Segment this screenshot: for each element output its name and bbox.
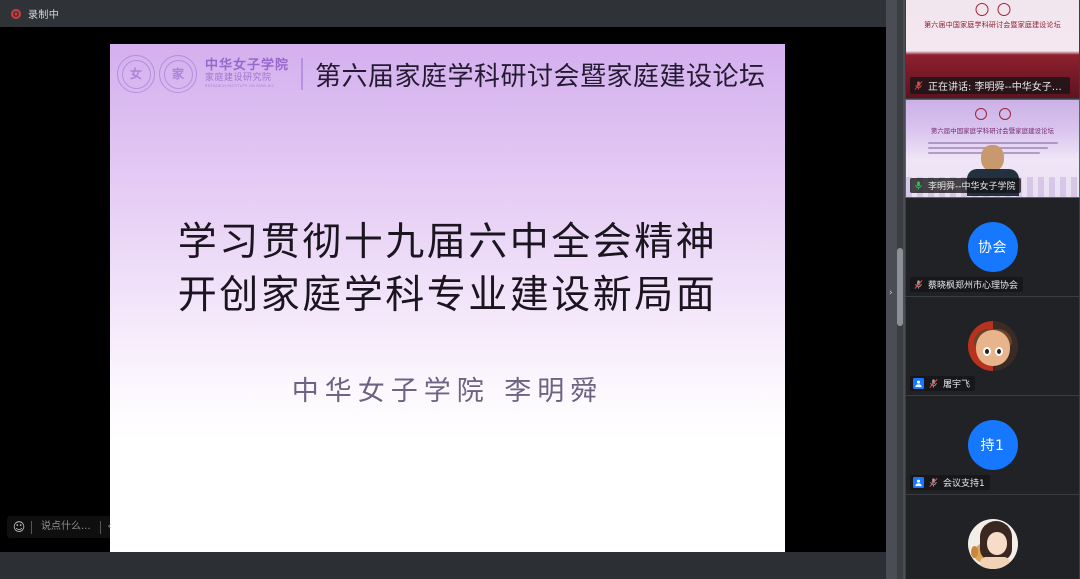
participant-label: 李明舜--中华女子学院	[910, 178, 1021, 193]
meeting-window: 录制中 女 家 中华女子学院 家庭建设研究院 RESEARCH INSTITUT…	[0, 0, 1080, 579]
expand-panel-chevron-icon[interactable]: ›	[889, 289, 893, 298]
logo-university-name: 中华女子学院	[205, 59, 289, 73]
participant-panel[interactable]: 第六届中国家庭学科研讨会暨家庭建设论坛正在讲话: 李明舜--中华女子学...第六…	[905, 0, 1080, 579]
chat-input[interactable]: 说点什么...	[32, 516, 100, 538]
presentation-slide: 女 家 中华女子学院 家庭建设研究院 RESEARCH INSTITUTE ON…	[110, 44, 785, 552]
slide-main-title: 学习贯彻十九届六中全会精神 开创家庭学科专业建设新局面	[110, 216, 785, 323]
slide-title-line-1: 学习贯彻十九届六中全会精神	[110, 216, 785, 269]
photo-seal-icons	[975, 108, 1011, 120]
participant-name: 会议支持1	[943, 476, 985, 489]
mic-muted-icon	[913, 279, 924, 290]
participant-tile[interactable]	[905, 495, 1080, 579]
participant-label: 会议支持1	[910, 475, 990, 490]
logo-institute-name: 家庭建设研究院	[205, 73, 289, 84]
avatar-image	[968, 519, 1018, 569]
seal-glyph-2: 家	[172, 68, 184, 80]
participant-tile[interactable]: 第六届中国家庭学科研讨会暨家庭建设论坛李明舜--中华女子学院	[905, 99, 1080, 198]
logo-divider	[301, 58, 303, 90]
mic-muted-icon	[928, 477, 939, 488]
photo-seal-icons	[975, 3, 1010, 16]
mic-on-icon	[913, 180, 924, 191]
mic-muted-icon	[928, 378, 939, 389]
participant-label: 蔡晓枫郑州市心理协会	[910, 277, 1023, 292]
seal-glyph-1: 女	[130, 68, 142, 80]
participant-name: 蔡晓枫郑州市心理协会	[928, 278, 1018, 291]
emoji-icon[interactable]: ☺	[7, 516, 31, 538]
mic-speaking-icon	[913, 80, 924, 91]
participant-name: 李明舜--中华女子学院	[928, 179, 1016, 192]
participant-scrollbar-thumb[interactable]	[897, 248, 903, 326]
bottom-bar: ☺ 说点什么... ‹	[0, 552, 905, 579]
participant-tile[interactable]: 屠宇飞	[905, 297, 1080, 396]
institute-seal-icon: 家	[159, 55, 197, 93]
participant-avatar: 持1	[968, 420, 1018, 470]
recording-indicator-icon	[11, 9, 21, 19]
university-seal-icon: 女	[117, 55, 155, 93]
participant-name: 屠宇飞	[943, 377, 970, 390]
chat-collapse-icon[interactable]: ‹	[101, 516, 119, 538]
logo-wordmark: 中华女子学院 家庭建设研究院 RESEARCH INSTITUTE ON FAM…	[205, 59, 289, 89]
photo-banner-text: 第六届中国家庭学科研讨会暨家庭建设论坛	[906, 20, 1079, 30]
slide-presenter: 中华女子学院 李明舜	[110, 369, 785, 408]
panelists-row	[906, 30, 1079, 65]
person-icon	[913, 477, 924, 488]
shared-screen-stage[interactable]: 女 家 中华女子学院 家庭建设研究院 RESEARCH INSTITUTE ON…	[0, 27, 905, 552]
person-icon	[913, 378, 924, 389]
participant-label: 屠宇飞	[910, 376, 975, 391]
participant-label: 正在讲话: 李明舜--中华女子学...	[910, 77, 1070, 94]
participant-name: 正在讲话: 李明舜--中华女子学...	[928, 78, 1065, 93]
participant-avatar: 协会	[968, 222, 1018, 272]
participant-tile[interactable]: 持1会议支持1	[905, 396, 1080, 495]
slide-header: 女 家 中华女子学院 家庭建设研究院 RESEARCH INSTITUTE ON…	[110, 55, 785, 93]
recording-label: 录制中	[28, 6, 59, 21]
slide-title-line-2: 开创家庭学科专业建设新局面	[110, 269, 785, 322]
participant-tile[interactable]: 第六届中国家庭学科研讨会暨家庭建设论坛正在讲话: 李明舜--中华女子学...	[905, 0, 1080, 99]
chat-input-bar[interactable]: ☺ 说点什么... ‹	[7, 516, 119, 538]
participant-tile[interactable]: 协会蔡晓枫郑州市心理协会	[905, 198, 1080, 297]
slide-header-title: 第六届家庭学科研讨会暨家庭建设论坛	[315, 56, 766, 93]
top-bar: 录制中	[0, 0, 905, 27]
avatar-image	[968, 321, 1018, 371]
photo-banner-text: 第六届中国家庭学科研讨会暨家庭建设论坛	[906, 126, 1079, 135]
logo-english-name: RESEARCH INSTITUTE ON FAMILIES	[205, 84, 289, 89]
